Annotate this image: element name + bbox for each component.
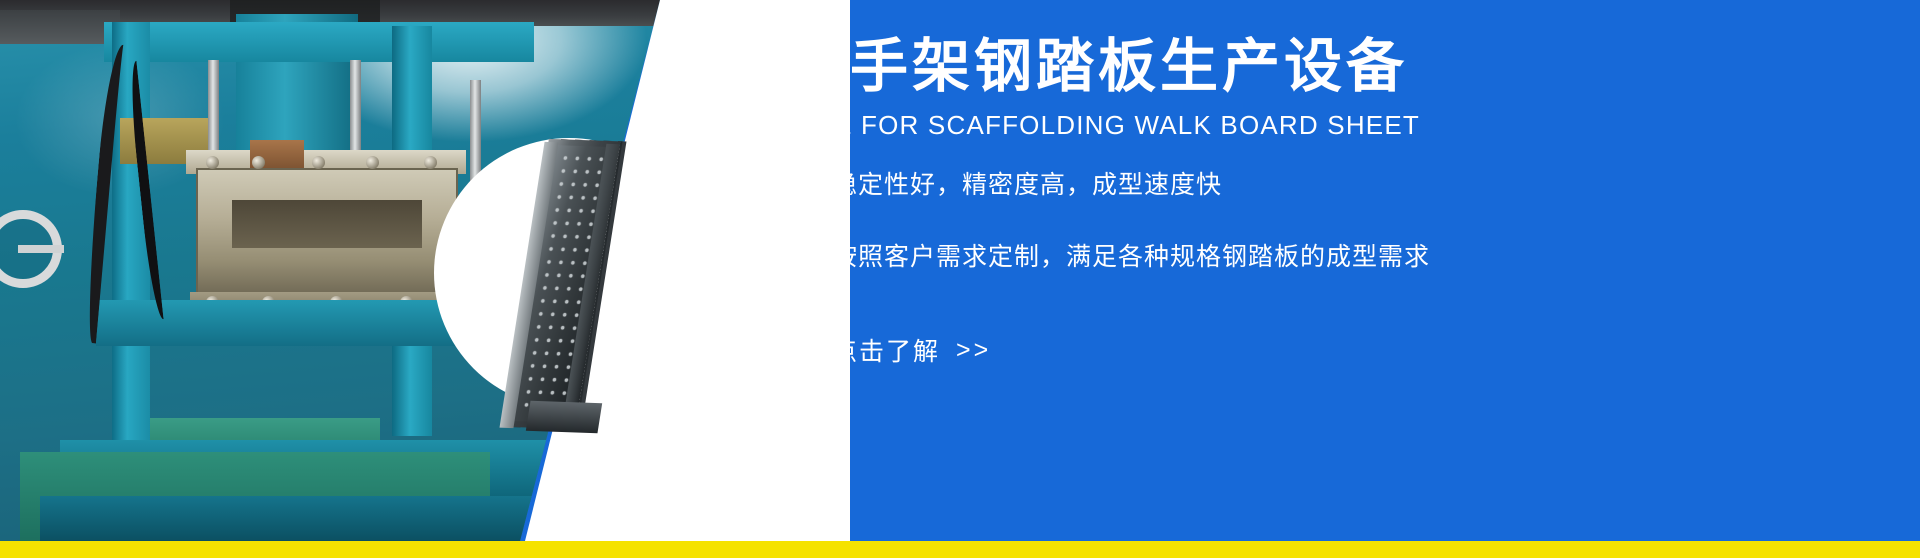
feature-list: 稳定性好，精密度高，成型速度快 按照客户需求定制，满足各种规格钢踏板的成型需求 [788, 168, 1888, 312]
photo-bolt [424, 156, 437, 169]
walk-board-end-cap [526, 401, 602, 433]
banner-subtitle: LINE FOR SCAFFOLDING WALK BOARD SHEET [790, 108, 1420, 142]
photo-die-slot [232, 200, 422, 248]
feature-item-label: 按照客户需求定制，满足各种规格钢踏板的成型需求 [832, 240, 1430, 274]
banner-content: 脚手架钢踏板生产设备 LINE FOR SCAFFOLDING WALK BOA… [788, 0, 1920, 541]
photo-bolt [366, 156, 379, 169]
photo-bolt [206, 156, 219, 169]
square-bullet-icon [788, 175, 808, 195]
bottom-accent-strip [0, 541, 1920, 558]
photo-top-beam-secondary [0, 10, 120, 44]
photo-handwheel-spoke [18, 245, 64, 253]
photo-frame-crossbar-top [104, 22, 534, 62]
promo-banner: 脚手架钢踏板生产设备 LINE FOR SCAFFOLDING WALK BOA… [0, 0, 1920, 558]
photo-base-lower [40, 496, 600, 541]
banner-title: 脚手架钢踏板生产设备 [788, 32, 1408, 102]
learn-more-label: 点击了解 [832, 332, 940, 368]
photo-bolt [252, 156, 265, 169]
feature-item: 按照客户需求定制，满足各种规格钢踏板的成型需求 [788, 240, 1888, 274]
square-bullet-icon [788, 247, 808, 267]
chevron-right-icon: >> [956, 336, 991, 365]
feature-item: 稳定性好，精密度高，成型速度快 [788, 168, 1888, 202]
feature-item-label: 稳定性好，精密度高，成型速度快 [832, 168, 1222, 202]
photo-bolt [312, 156, 325, 169]
product-walk-board [520, 140, 670, 430]
learn-more-link[interactable]: 点击了解 >> [832, 332, 991, 368]
